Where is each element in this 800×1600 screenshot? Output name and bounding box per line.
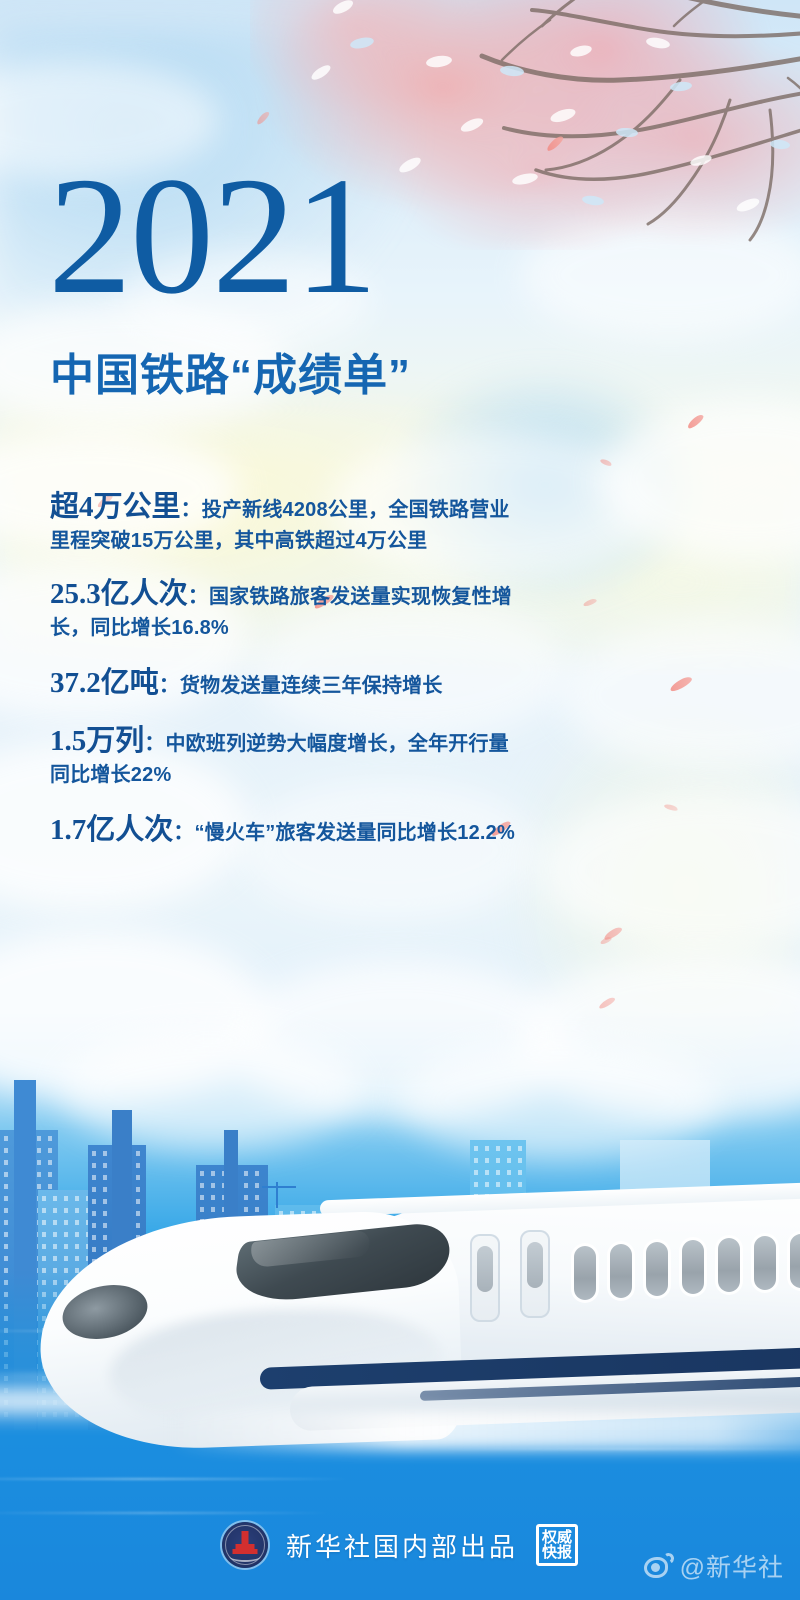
stat-lead-value: 超4万公里	[50, 491, 181, 523]
stamp-bottom-text: 快报	[542, 1545, 572, 1560]
stat-colon: ：	[144, 732, 165, 755]
stat-colon: ：	[181, 498, 202, 521]
stat-detail: 货物发送量连续三年保持增长	[180, 675, 443, 697]
poster-subtitle: 中国铁路“成绩单”	[50, 352, 411, 400]
high-speed-train	[170, 1160, 800, 1490]
list-item: 25.3亿人次：国家铁路旅客发送量实现恢复性增长，同比增长16.8%	[50, 579, 520, 644]
footer-credit: 新华社国内部出品	[286, 1527, 518, 1564]
door-window	[527, 1242, 543, 1288]
stat-lead-value: 1.7亿人次	[50, 814, 173, 846]
list-item: 1.5万列：中欧班列逆势大幅度增长，全年开行量同比增长22%	[50, 726, 520, 791]
stamp-top-text: 权威	[542, 1530, 572, 1545]
train-underglow	[170, 1410, 800, 1450]
weibo-eye-icon	[644, 1553, 674, 1579]
xinhua-emblem-icon	[222, 1522, 268, 1568]
weibo-watermark: @新华社	[644, 1548, 784, 1584]
stat-colon: ：	[188, 585, 209, 608]
list-item: 37.2亿吨：货物发送量连续三年保持增长	[50, 668, 520, 702]
stat-detail: “慢火车”旅客发送量同比增长12.2%	[194, 822, 515, 844]
stat-lead-value: 1.5万列	[50, 725, 144, 757]
stat-lead-value: 37.2亿吨	[50, 667, 159, 699]
stat-lead-value: 25.3亿人次	[50, 578, 188, 610]
stats-list: 超4万公里：投产新线4208公里，全国铁路营业里程突破15万公里，其中高铁超过4…	[50, 492, 520, 871]
poster-canvas: 2021 中国铁路“成绩单” 超4万公里：投产新线4208公里，全国铁路营业里程…	[0, 0, 800, 1600]
stat-colon: ：	[173, 821, 194, 844]
door-window	[477, 1246, 493, 1292]
authority-stamp-icon: 权威 快报	[536, 1524, 578, 1566]
train-door	[520, 1230, 550, 1318]
poster-footer: 新华社国内部出品 权威 快报 @新华社	[0, 1504, 800, 1600]
weibo-handle: @新华社	[680, 1548, 784, 1584]
list-item: 1.7亿人次：“慢火车”旅客发送量同比增长12.2%	[50, 815, 520, 849]
train-door	[470, 1234, 500, 1322]
stat-colon: ：	[159, 674, 180, 697]
list-item: 超4万公里：投产新线4208公里，全国铁路营业里程突破15万公里，其中高铁超过4…	[50, 492, 520, 557]
page-title-year: 2021	[48, 152, 376, 320]
